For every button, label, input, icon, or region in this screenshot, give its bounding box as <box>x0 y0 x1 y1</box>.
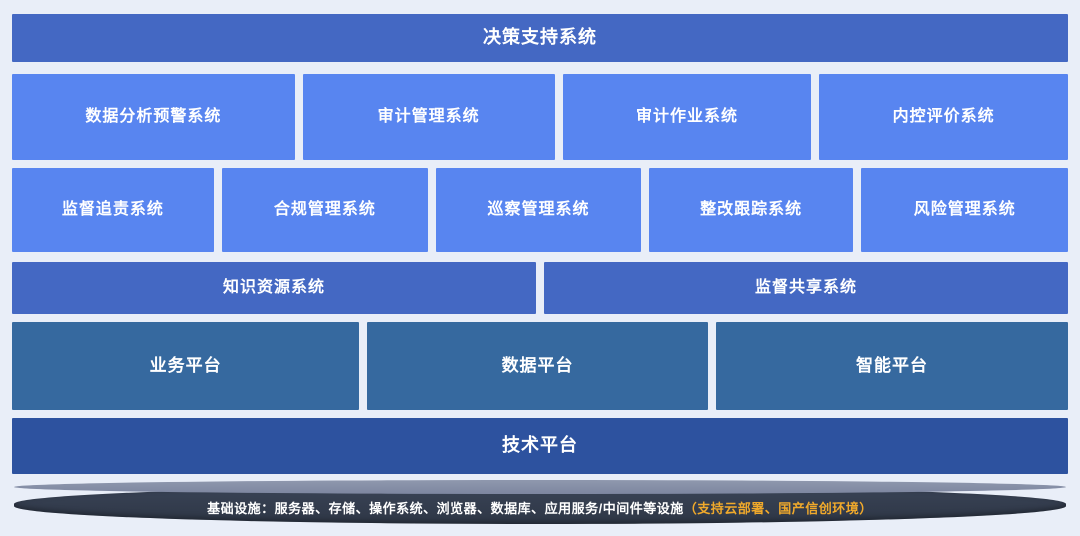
audit-operation-system-box[interactable]: 审计作业系统 <box>563 74 812 160</box>
architecture-diagram: 决策支持系统 数据分析预警系统 审计管理系统 审计作业系统 内控评价系统 监督追… <box>0 0 1080 536</box>
audit-management-system-box[interactable]: 审计管理系统 <box>303 74 555 160</box>
data-analysis-warning-system-box[interactable]: 数据分析预警系统 <box>12 74 295 160</box>
supervision-accountability-system-box[interactable]: 监督追责系统 <box>12 168 214 252</box>
layer-shared: 知识资源系统 监督共享系统 <box>12 262 1068 314</box>
internal-control-evaluation-system-box[interactable]: 内控评价系统 <box>819 74 1068 160</box>
supervision-sharing-system-box[interactable]: 监督共享系统 <box>544 262 1068 314</box>
data-platform-box[interactable]: 数据平台 <box>367 322 708 410</box>
inspection-management-system-box[interactable]: 巡察管理系统 <box>436 168 641 252</box>
layer-platform: 业务平台 数据平台 智能平台 <box>12 322 1068 410</box>
infrastructure-disc[interactable]: 基础设施：服务器、存储、操作系统、浏览器、数据库、应用服务/中间件等设施 （支持… <box>14 480 1066 524</box>
decision-support-system-box[interactable]: 决策支持系统 <box>12 14 1068 62</box>
infrastructure-label-main: 基础设施：服务器、存储、操作系统、浏览器、数据库、应用服务/中间件等设施 <box>207 498 684 517</box>
layer-application-row1: 数据分析预警系统 审计管理系统 审计作业系统 内控评价系统 <box>12 74 1068 160</box>
risk-management-system-box[interactable]: 风险管理系统 <box>861 168 1068 252</box>
layer-decision: 决策支持系统 <box>12 14 1068 62</box>
technical-platform-box[interactable]: 技术平台 <box>12 418 1068 474</box>
layer-infrastructure: 基础设施：服务器、存储、操作系统、浏览器、数据库、应用服务/中间件等设施 （支持… <box>14 480 1066 524</box>
knowledge-resource-system-box[interactable]: 知识资源系统 <box>12 262 536 314</box>
intelligent-platform-box[interactable]: 智能平台 <box>716 322 1068 410</box>
infrastructure-label: 基础设施：服务器、存储、操作系统、浏览器、数据库、应用服务/中间件等设施 （支持… <box>14 490 1066 524</box>
layer-application-row2: 监督追责系统 合规管理系统 巡察管理系统 整改跟踪系统 风险管理系统 <box>12 168 1068 252</box>
layer-tech: 技术平台 <box>12 418 1068 474</box>
infrastructure-label-highlight: （支持云部署、国产信创环境） <box>684 498 873 517</box>
compliance-management-system-box[interactable]: 合规管理系统 <box>222 168 429 252</box>
business-platform-box[interactable]: 业务平台 <box>12 322 359 410</box>
rectification-tracking-system-box[interactable]: 整改跟踪系统 <box>649 168 854 252</box>
